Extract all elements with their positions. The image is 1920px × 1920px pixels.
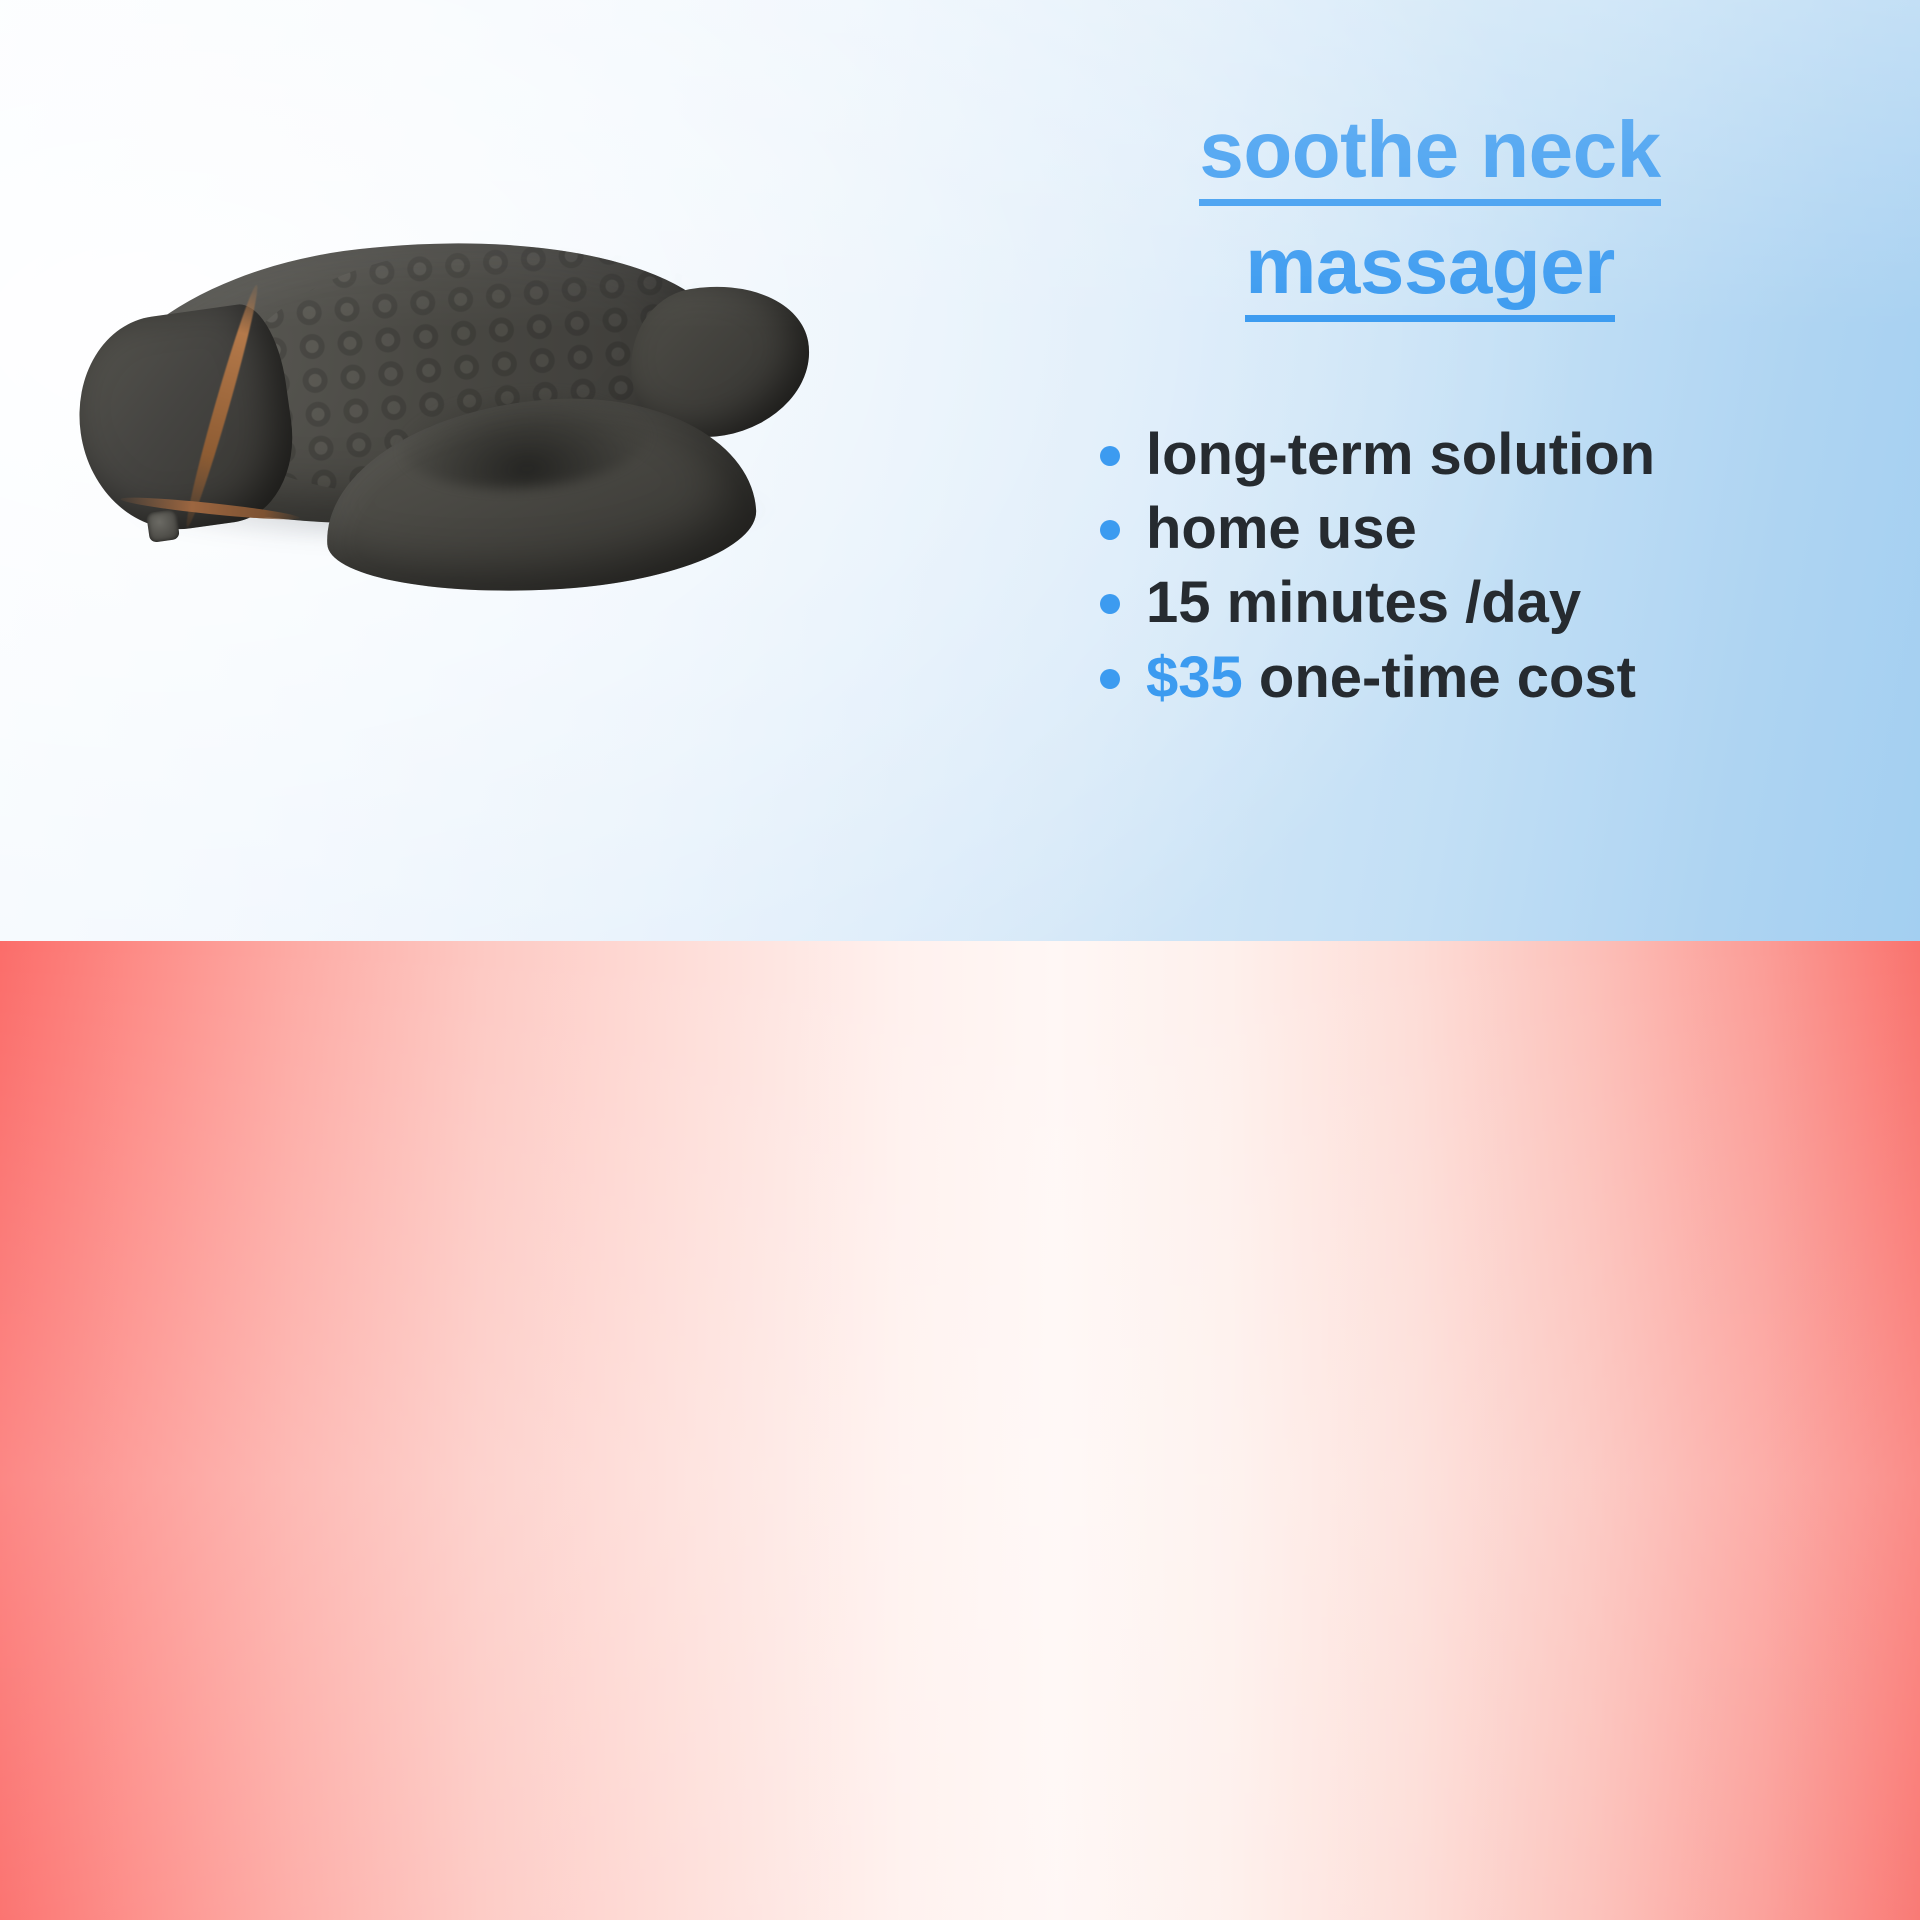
list-item: long-term solution: [1100, 418, 1920, 492]
bullet-dot-icon: [1100, 669, 1120, 689]
massager-power-button-icon: [146, 509, 180, 543]
bullet-dot-icon: [1100, 520, 1120, 540]
bullet-text: home use: [1146, 492, 1417, 566]
list-item: 15 minutes /day: [1100, 566, 1920, 640]
bullet-dot-icon: [1100, 446, 1120, 466]
comparison-poster: soothe neck massager long-term solution …: [0, 0, 1920, 1920]
bullet-list-neck-massager: long-term solution home use 15 minutes /…: [1100, 418, 1920, 715]
bullet-dot-icon: [1100, 594, 1120, 614]
list-item: $35 one-time cost: [1100, 641, 1920, 715]
heading-line-2: massager: [1245, 224, 1615, 322]
panel-chiropractors: chiropractors temporary relief appointme…: [0, 941, 1920, 1920]
bullet-price-accent: $35: [1146, 645, 1243, 710]
neck-massager-product-image: [70, 225, 830, 625]
bullet-text-group: $35 one-time cost: [1146, 641, 1636, 715]
panel-neck-massager: soothe neck massager long-term solution …: [0, 0, 1920, 941]
bullet-text: long-term solution: [1146, 418, 1655, 492]
list-item: home use: [1100, 492, 1920, 566]
bullet-text: 15 minutes /day: [1146, 566, 1581, 640]
heading-neck-massager: soothe neck massager: [960, 108, 1900, 322]
heading-line-1: soothe neck: [1199, 108, 1660, 206]
bullet-text: one-time cost: [1259, 645, 1636, 710]
